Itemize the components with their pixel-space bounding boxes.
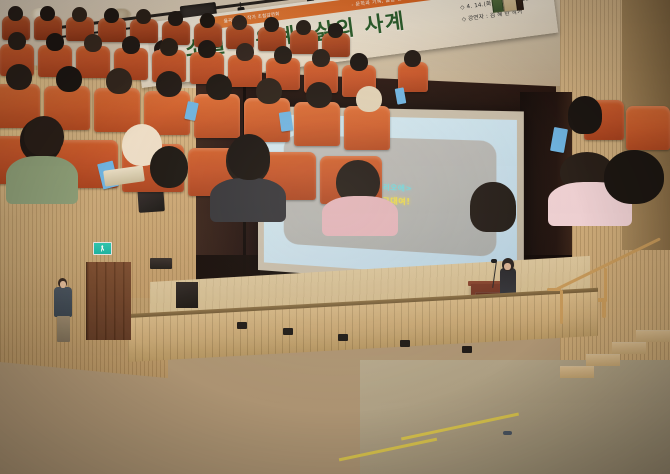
audience-head xyxy=(8,32,26,50)
audience-head xyxy=(84,34,102,52)
stage-monitor-3 xyxy=(338,334,348,341)
audience-head xyxy=(40,6,55,21)
audience-head xyxy=(312,49,330,67)
auditorium-photo: <필로리오에> 안녕 그대여! 율곡도서관 작가 초청강연회 - 문학과 기록,… xyxy=(0,0,670,474)
audience-head xyxy=(104,8,119,23)
audience-head xyxy=(46,33,64,51)
audience-head xyxy=(6,64,32,90)
audience-head xyxy=(470,182,516,232)
program-leaflet[interactable] xyxy=(279,111,294,131)
audience-head xyxy=(328,23,343,38)
audience-head xyxy=(56,66,82,92)
audience-head xyxy=(150,146,188,188)
audience-head xyxy=(604,150,664,204)
seat[interactable] xyxy=(294,102,340,146)
audience-shoulders xyxy=(6,156,78,204)
audience-head xyxy=(274,46,292,64)
audience-head xyxy=(8,6,23,21)
audience-head xyxy=(24,116,64,156)
audience-head xyxy=(206,74,232,100)
audience-head xyxy=(136,9,151,24)
handrail-post-1 xyxy=(560,290,563,324)
seat[interactable] xyxy=(344,106,390,150)
audience-head xyxy=(356,86,382,112)
audience-head xyxy=(296,20,311,35)
audience-head xyxy=(198,40,216,58)
audience-head xyxy=(256,78,282,104)
staff-member-standing xyxy=(54,278,72,342)
audience-head xyxy=(228,134,270,180)
stage-monitor-5 xyxy=(462,346,472,353)
exit-sign-icon xyxy=(93,242,112,255)
handrail-post-2 xyxy=(604,268,607,302)
audience-head xyxy=(106,68,132,94)
audience-head xyxy=(404,50,421,67)
audience-head xyxy=(122,36,140,54)
audience-head xyxy=(350,53,368,71)
audience-shoulders xyxy=(322,196,398,236)
stage-monitor-4 xyxy=(400,340,410,347)
stage-monitor-2 xyxy=(283,328,293,335)
stage-speaker-box-left xyxy=(176,282,198,308)
audience-shoulders xyxy=(210,178,286,222)
seat[interactable] xyxy=(626,106,670,150)
audience-head xyxy=(232,15,247,30)
library-logo: 김천시립 율곡도서관 GIMCHEON CITY YULGOK PUBLIC L… xyxy=(527,0,559,4)
side-stairs xyxy=(560,322,668,392)
audience-head xyxy=(200,13,215,28)
audience-head xyxy=(160,38,178,56)
audience-head xyxy=(72,7,87,22)
floor-object-cable xyxy=(503,431,512,435)
microphone-head xyxy=(491,259,497,263)
presenter-face xyxy=(504,263,511,270)
seat[interactable] xyxy=(194,94,240,138)
audience-head xyxy=(156,71,182,97)
audience-head xyxy=(236,43,254,61)
audience-head xyxy=(306,82,332,108)
wall-panel-plate xyxy=(150,258,172,269)
side-exit-door[interactable] xyxy=(86,262,131,340)
audience-head xyxy=(568,96,602,134)
audience-head xyxy=(168,11,183,26)
stage-monitor-1 xyxy=(237,322,247,329)
handrail-return xyxy=(547,288,561,291)
audience-head xyxy=(264,17,279,32)
